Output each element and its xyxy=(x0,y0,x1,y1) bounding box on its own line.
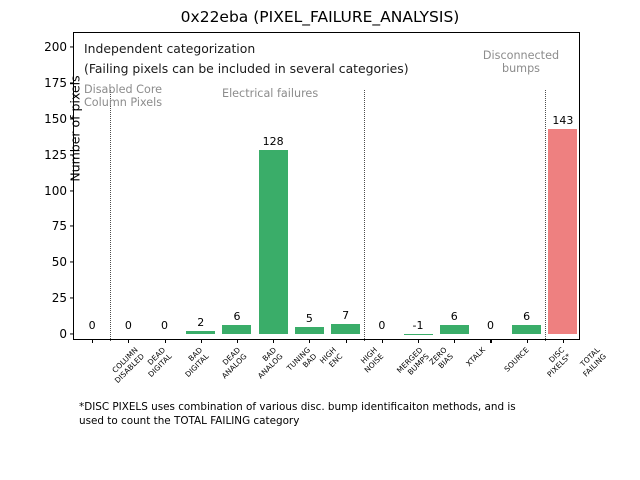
y-tick-mark xyxy=(70,190,74,191)
x-tick-mark xyxy=(309,339,310,343)
dcc-line2: Column Pixels xyxy=(84,96,162,109)
x-tick-label: DEADDIGITAL xyxy=(141,346,174,379)
bar-value-label: 143 xyxy=(552,114,573,127)
bar-value-label: 6 xyxy=(451,310,458,323)
chart-title: 0x22eba (PIXEL_FAILURE_ANALYSIS) xyxy=(0,8,640,26)
category-separator xyxy=(545,90,546,341)
y-tick-mark xyxy=(70,297,74,298)
x-tick-mark xyxy=(418,339,419,343)
x-tick-mark xyxy=(382,339,383,343)
x-tick-label: DISCPIXELS* xyxy=(539,346,572,379)
bar-value-label: 128 xyxy=(263,135,284,148)
y-tick-mark xyxy=(70,118,74,119)
y-tick-label: 200 xyxy=(25,40,74,54)
bar-value-label: 7 xyxy=(342,309,349,322)
figure-canvas: 0x22eba (PIXEL_FAILURE_ANALYSIS) Number … xyxy=(0,0,640,480)
x-tick-label: DEADANALOG xyxy=(214,346,249,381)
bar-value-label: 0 xyxy=(125,319,132,332)
bar xyxy=(222,325,251,334)
bar-value-label: 6 xyxy=(233,310,240,323)
x-tick-mark xyxy=(201,339,202,343)
bar-value-label: 6 xyxy=(523,310,530,323)
bar xyxy=(186,331,215,334)
bar-value-label: 0 xyxy=(89,319,96,332)
y-tick-label: 0 xyxy=(25,327,74,341)
x-tick-label: ZEROBIAS xyxy=(428,346,455,373)
y-tick-mark xyxy=(70,262,74,263)
plot-area: Number of pixels 0255075100125150175200 … xyxy=(73,32,580,340)
category-separator xyxy=(110,90,111,341)
y-tick-label: 50 xyxy=(25,255,74,269)
bar-value-label: 0 xyxy=(487,319,494,332)
footnote-line-2: used to count the TOTAL FAILING category xyxy=(79,414,599,428)
y-tick-label: 100 xyxy=(25,184,74,198)
y-tick-label: 75 xyxy=(25,219,74,233)
y-tick-mark xyxy=(70,47,74,48)
x-tick-mark xyxy=(92,339,93,343)
disc-line1: Disconnected xyxy=(483,49,559,62)
bar xyxy=(512,325,541,334)
x-tick-label: BADDIGITAL xyxy=(177,346,210,379)
annotation-independent-categorization: Independent categorization xyxy=(84,41,255,56)
bar-value-label: -1 xyxy=(413,319,424,332)
bar-value-label: 0 xyxy=(161,319,168,332)
y-tick-mark xyxy=(70,154,74,155)
annotation-disabled-core-column-pixels: Disabled CoreColumn Pixels xyxy=(84,83,162,109)
x-tick-label: XTALK xyxy=(465,346,488,369)
y-tick-mark xyxy=(70,226,74,227)
x-tick-label: TUNINGBAD xyxy=(286,346,319,379)
x-tick-label: HIGHNOISE xyxy=(356,346,385,375)
bar-value-label: 2 xyxy=(197,316,204,329)
annotation-electrical-failures: Electrical failures xyxy=(222,87,318,100)
y-tick-label: 175 xyxy=(25,76,74,90)
bar xyxy=(404,334,433,335)
disc-line2: bumps xyxy=(502,62,540,75)
category-separator xyxy=(364,90,365,341)
bar xyxy=(259,150,288,333)
x-tick-mark xyxy=(165,339,166,343)
x-tick-label: SOURCE xyxy=(504,346,532,374)
y-axis-label: Number of pixels xyxy=(68,75,83,181)
bar xyxy=(440,325,469,334)
bar xyxy=(295,327,324,334)
x-tick-mark xyxy=(490,339,491,343)
x-tick-mark xyxy=(527,339,528,343)
x-tick-label: HIGHENC xyxy=(319,346,345,372)
y-tick-mark xyxy=(70,333,74,334)
y-tick-mark xyxy=(70,83,74,84)
bar xyxy=(331,324,360,334)
x-tick-label: MERGEDBUMPS xyxy=(395,346,430,381)
y-tick-label: 150 xyxy=(25,112,74,126)
x-tick-mark xyxy=(563,339,564,343)
x-tick-mark xyxy=(128,339,129,343)
bar-value-label: 5 xyxy=(306,312,313,325)
footnote: *DISC PIXELS uses combination of various… xyxy=(79,400,599,428)
y-tick-label: 125 xyxy=(25,148,74,162)
x-tick-label: TOTALFAILING xyxy=(575,346,608,379)
x-tick-mark xyxy=(237,339,238,343)
x-tick-mark xyxy=(346,339,347,343)
x-tick-mark xyxy=(454,339,455,343)
bar-value-label: 0 xyxy=(378,319,385,332)
x-tick-label: BADANALOG xyxy=(250,346,285,381)
dcc-line1: Disabled Core xyxy=(84,83,162,96)
footnote-line-1: *DISC PIXELS uses combination of various… xyxy=(79,400,599,414)
annotation-disconnected-bumps: Disconnectedbumps xyxy=(466,49,576,75)
bar xyxy=(548,129,577,334)
x-tick-mark xyxy=(273,339,274,343)
annotation-failing-pixels-note: (Failing pixels can be included in sever… xyxy=(84,61,409,76)
y-tick-label: 25 xyxy=(25,291,74,305)
